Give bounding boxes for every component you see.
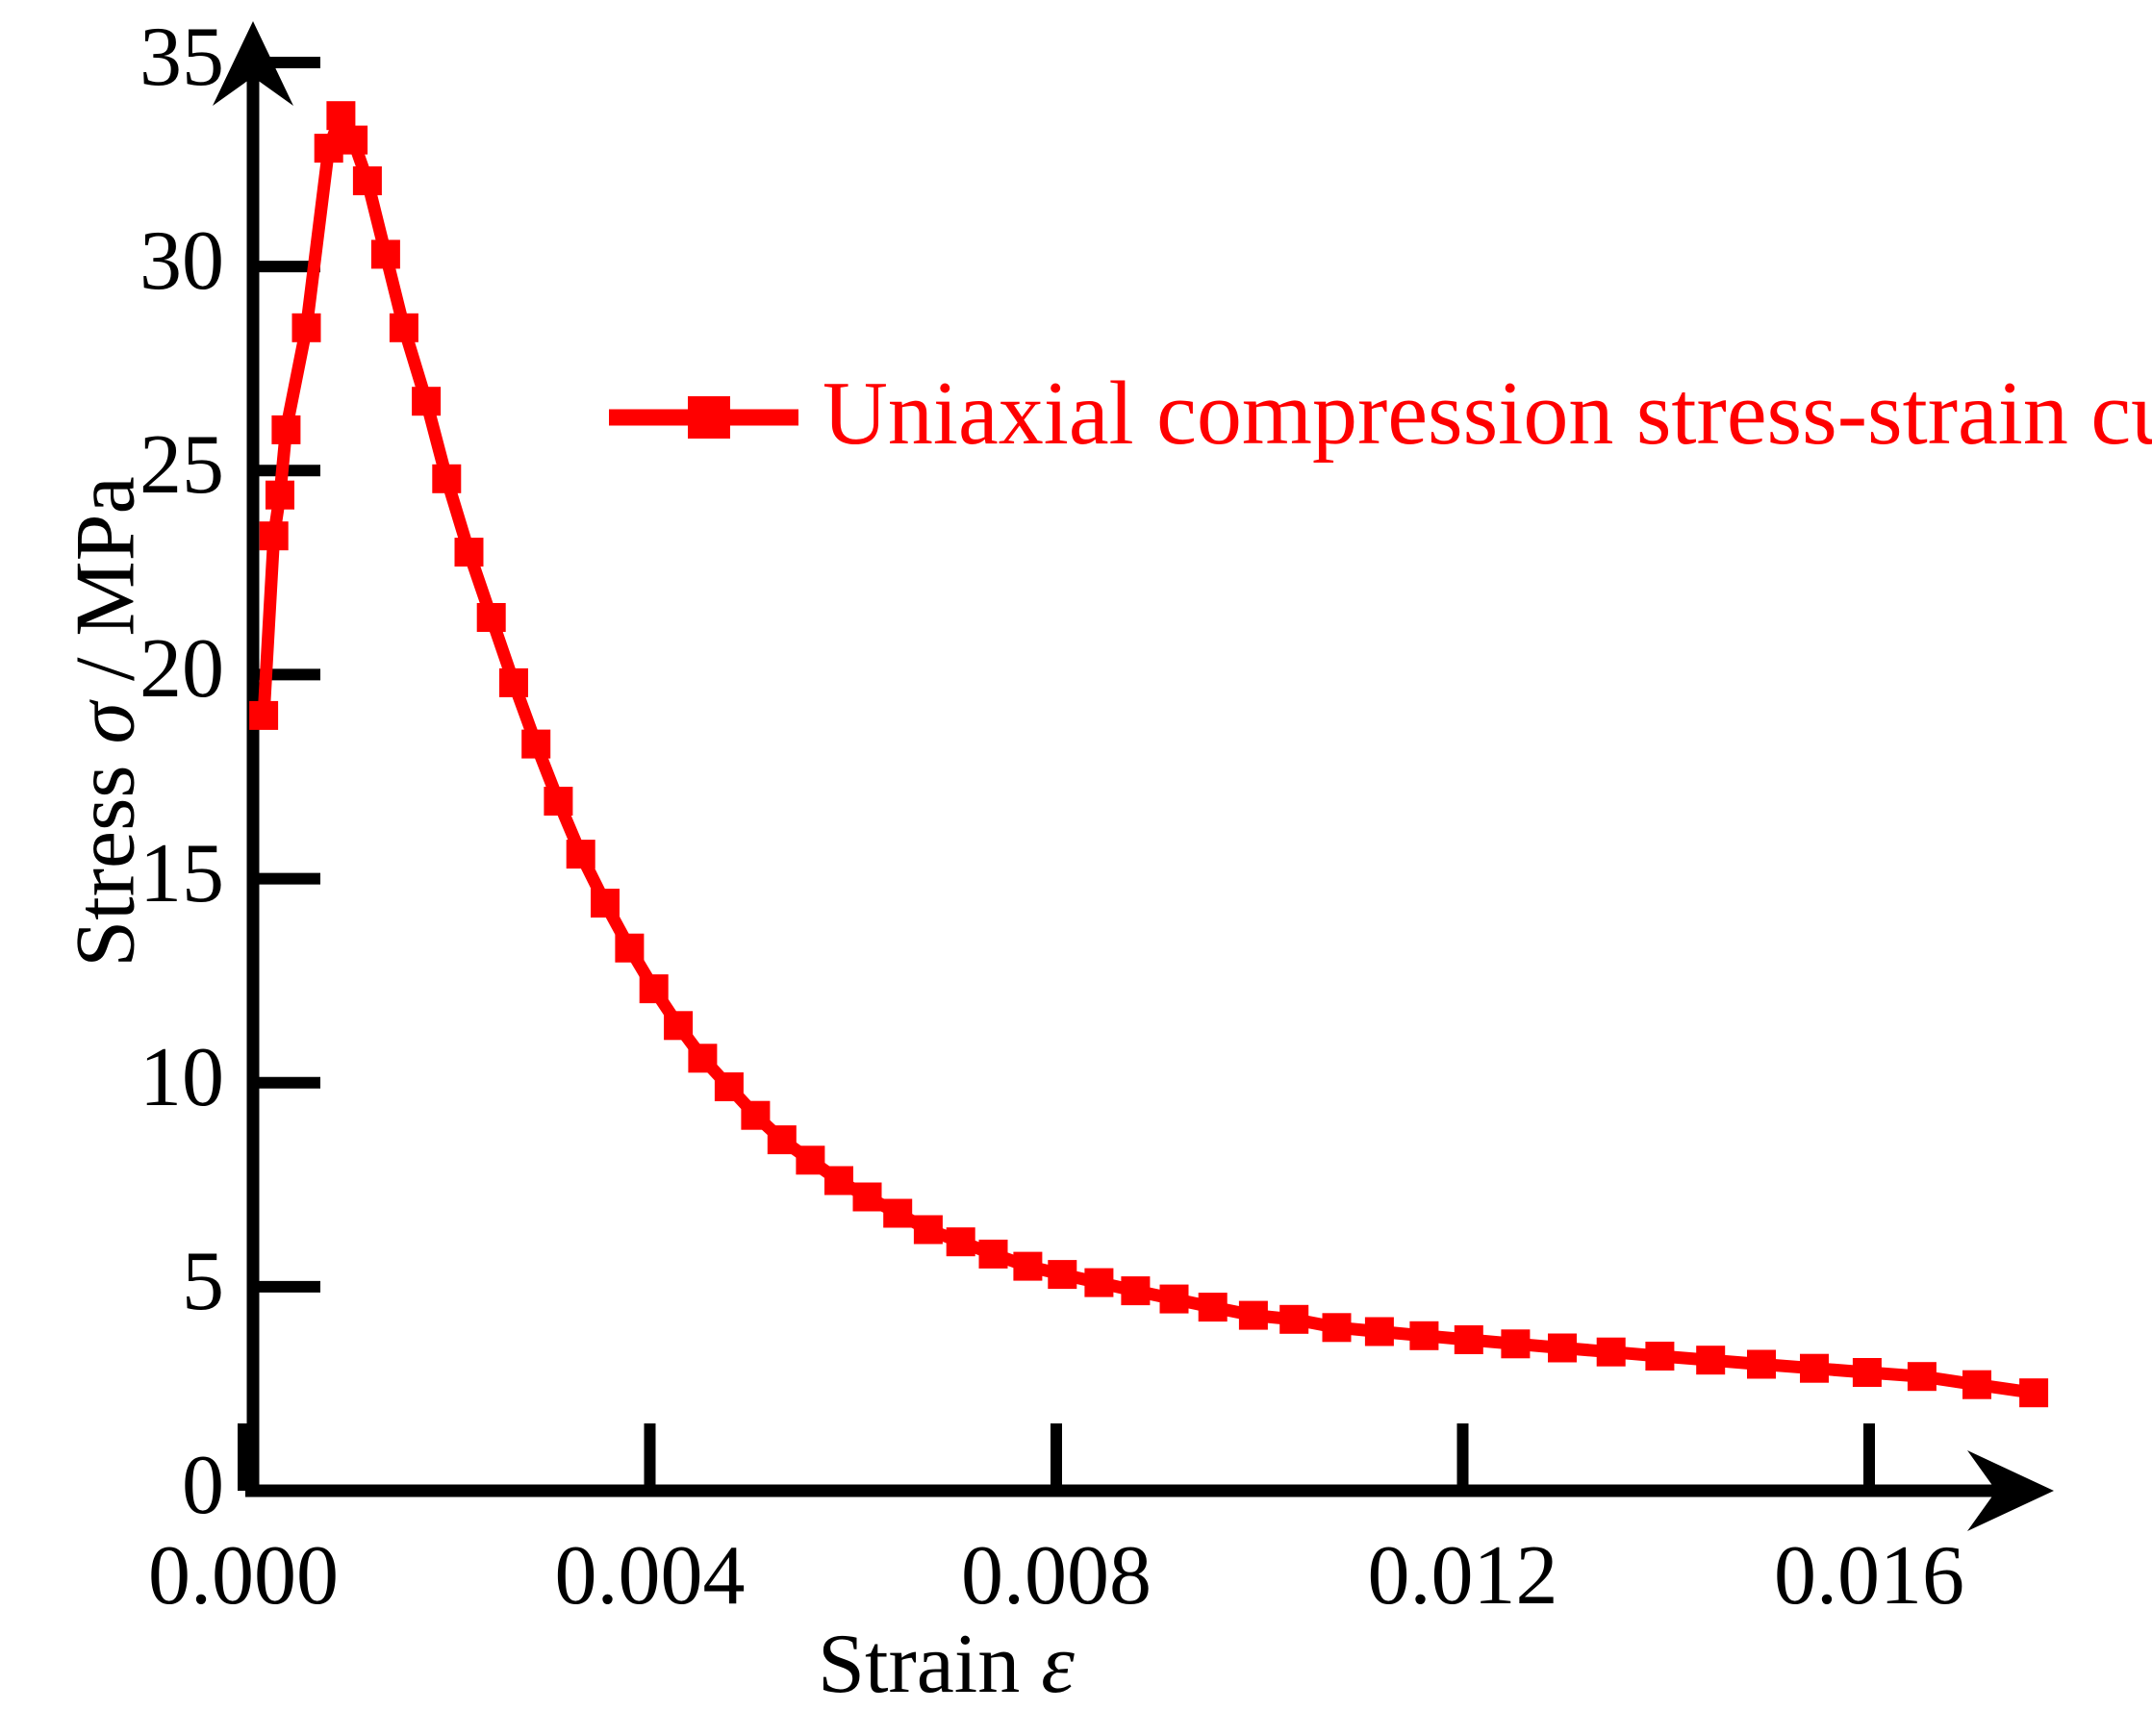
series-data-point-marker: [1747, 1350, 1776, 1379]
series-data-point-marker: [412, 387, 441, 415]
series-data-point-marker: [521, 730, 550, 759]
series-data-point-marker: [1455, 1325, 1483, 1354]
x-axis-label-symbol: ε: [1041, 1618, 1075, 1711]
series-data-point-marker: [1365, 1318, 1394, 1346]
series-data-point-marker: [1121, 1276, 1150, 1305]
series-data-point-marker: [853, 1183, 882, 1212]
x-axis-tick-label: 0.004: [496, 1527, 804, 1624]
series-data-point-marker: [1548, 1334, 1577, 1363]
y-axis-tick-label: 35: [32, 9, 224, 106]
x-axis-tick-label: 0.000: [89, 1527, 397, 1624]
series-data-point-marker: [339, 126, 367, 155]
series-data-point-marker: [1800, 1354, 1829, 1383]
y-axis-tick-label: 20: [32, 620, 224, 717]
series-data-point-marker: [741, 1101, 770, 1130]
y-axis-tick-label: 15: [32, 825, 224, 922]
y-axis-label: Stress σ / MPa: [58, 434, 155, 1011]
series-data-point-marker: [1279, 1305, 1308, 1334]
series-data-point-marker: [1199, 1293, 1228, 1321]
y-axis-tick-label: 5: [32, 1233, 224, 1330]
series-data-point-marker: [1323, 1313, 1352, 1342]
series-data-point-marker: [353, 166, 382, 195]
series-data-point-marker: [1908, 1362, 1937, 1391]
series-data-point-marker: [796, 1145, 824, 1174]
series-data-point-marker: [1597, 1338, 1626, 1367]
chart-canvas: Stress σ / MPa Strain ε 051015202530350.…: [0, 0, 2152, 1736]
series-data-point-marker: [715, 1072, 744, 1101]
x-axis-label: Strain ε: [0, 1616, 2152, 1713]
series-data-point-marker: [1013, 1252, 1042, 1281]
series-data-point-marker: [1048, 1260, 1076, 1289]
series-data-point-marker: [883, 1199, 912, 1228]
series-data-point-marker: [1160, 1285, 1189, 1314]
series-data-point-marker: [979, 1240, 1008, 1269]
legend-marker-icon: [688, 396, 730, 439]
series-data-point-marker: [477, 603, 506, 632]
series-data-point-marker: [1645, 1342, 1674, 1371]
series-data-point-marker: [271, 415, 300, 444]
series-data-point-marker: [390, 314, 418, 342]
x-axis-tick-label: 0.008: [902, 1527, 1210, 1624]
y-axis-tick-label: 30: [32, 213, 224, 310]
series-data-point-marker: [567, 840, 595, 868]
series-data-point-marker: [1239, 1301, 1268, 1330]
series-layer: [249, 101, 2048, 1407]
y-axis-tick-label: 10: [32, 1029, 224, 1126]
series-data-point-marker: [1501, 1329, 1530, 1358]
legend-layer: [609, 396, 798, 439]
series-data-point-marker: [2019, 1378, 2048, 1407]
series-data-point-marker: [664, 1011, 693, 1040]
series-data-point-marker: [1696, 1346, 1725, 1374]
series-data-point-marker: [455, 538, 484, 566]
series-data-point-marker: [615, 934, 644, 963]
series-data-point-marker: [499, 668, 528, 697]
series-data-point-marker: [688, 1044, 717, 1072]
y-axis-tick-label: 25: [32, 416, 224, 514]
y-axis-tick-label: 0: [32, 1437, 224, 1534]
series-data-point-marker: [914, 1216, 943, 1245]
series-data-point-marker: [266, 481, 294, 510]
series-data-point-marker: [1084, 1269, 1113, 1297]
series-data-point-marker: [544, 787, 572, 816]
series-data-point-marker: [1409, 1321, 1438, 1350]
series-data-point-marker: [1962, 1371, 1991, 1399]
series-data-point-marker: [591, 889, 620, 918]
chart-plot-svg: [0, 0, 2152, 1736]
series-data-point-marker: [432, 465, 461, 493]
series-data-point-marker: [260, 521, 289, 550]
series-data-point-marker: [1853, 1358, 1882, 1387]
series-data-point-marker: [249, 701, 278, 730]
series-data-point-marker: [768, 1125, 797, 1154]
series-data-point-marker: [292, 314, 321, 342]
x-axis-tick-label: 0.012: [1309, 1527, 1617, 1624]
x-axis-tick-label: 0.016: [1715, 1527, 2023, 1624]
series-data-point-marker: [824, 1167, 853, 1195]
series-data-point-marker: [371, 239, 400, 268]
legend-label: Uniaxial compression stress-strain curve: [823, 368, 2152, 459]
series-data-point-marker: [947, 1227, 975, 1256]
series-data-point-marker: [640, 974, 669, 1003]
x-axis-label-text: Strain: [818, 1618, 1020, 1711]
